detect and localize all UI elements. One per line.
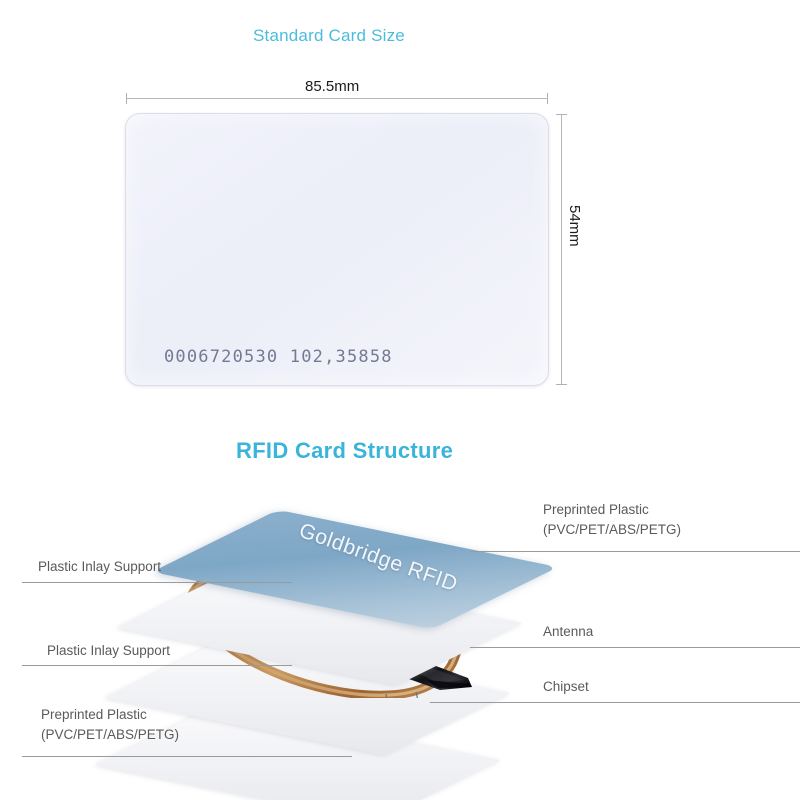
- callout-line-1: Preprinted Plastic: [543, 502, 649, 517]
- callout-line-1: Preprinted Plastic: [41, 707, 147, 722]
- leader-line-chipset: [430, 702, 800, 703]
- leader-line-plastic-inlay-2: [22, 665, 292, 666]
- leader-line-preprinted-bottom: [22, 756, 352, 757]
- leader-line-preprinted-top: [470, 551, 800, 552]
- leader-line-plastic-inlay-1: [22, 582, 292, 583]
- callout-plastic-inlay-support-1: Plastic Inlay Support: [38, 557, 161, 577]
- card-width-dimension-label: 85.5mm: [305, 78, 359, 95]
- callout-line-1: Plastic Inlay Support: [38, 559, 161, 574]
- card-printed-code: 0006720530 102,35858: [164, 347, 393, 367]
- callout-preprinted-plastic-bottom: Preprinted Plastic (PVC/PET/ABS/PETG): [41, 705, 179, 745]
- leader-line-antenna: [470, 647, 800, 648]
- callout-preprinted-plastic-top: Preprinted Plastic (PVC/PET/ABS/PETG): [543, 500, 681, 540]
- layer-preprinted-plastic-top: Goldbridge RFID: [215, 482, 495, 657]
- callout-antenna: Antenna: [543, 622, 593, 642]
- standard-card-size-title: Standard Card Size: [253, 26, 405, 46]
- card-height-dimension-line: [561, 114, 562, 385]
- callout-line-2: (PVC/PET/ABS/PETG): [543, 520, 681, 540]
- card-height-dimension-label: 54mm: [566, 205, 583, 247]
- callout-line-1: Antenna: [543, 624, 593, 639]
- callout-chipset: Chipset: [543, 677, 589, 697]
- standard-card-graphic: 0006720530 102,35858: [125, 113, 549, 386]
- callout-plastic-inlay-support-2: Plastic Inlay Support: [47, 641, 170, 661]
- callout-line-1: Chipset: [543, 679, 589, 694]
- infographic-page: Standard Card Size 85.5mm 54mm 000672053…: [0, 0, 800, 800]
- card-width-dimension-line: [126, 98, 548, 99]
- callout-line-1: Plastic Inlay Support: [47, 643, 170, 658]
- callout-line-2: (PVC/PET/ABS/PETG): [41, 725, 179, 745]
